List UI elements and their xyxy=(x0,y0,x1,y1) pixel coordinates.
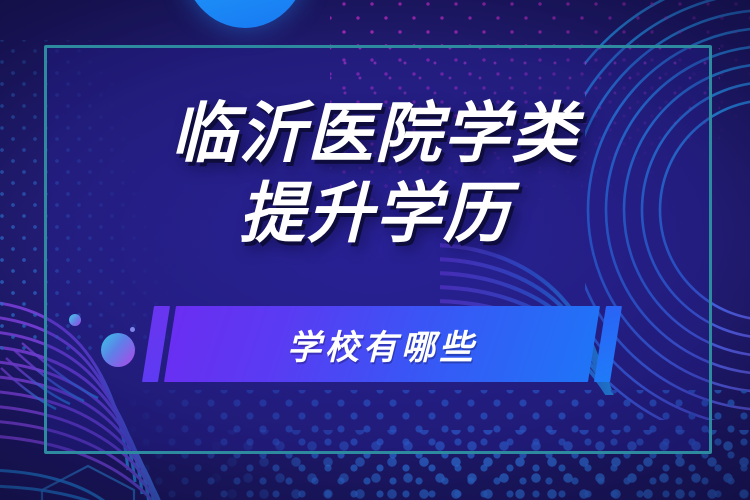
ribbon-text: 学校有哪些 xyxy=(170,306,594,382)
headline-block: 临沂医院学类 提升学历 xyxy=(0,100,750,246)
small-gradient-circle-medium xyxy=(69,314,81,326)
headline-line-1: 临沂医院学类 xyxy=(0,100,750,166)
small-gradient-circle-tiny xyxy=(130,327,135,332)
headline-line-2: 提升学历 xyxy=(0,180,750,246)
subtitle-ribbon: 学校有哪些 xyxy=(140,306,620,382)
poster-canvas: 临沂医院学类 提升学历 学校有哪些 xyxy=(0,0,750,500)
small-gradient-circle-large xyxy=(101,333,135,367)
